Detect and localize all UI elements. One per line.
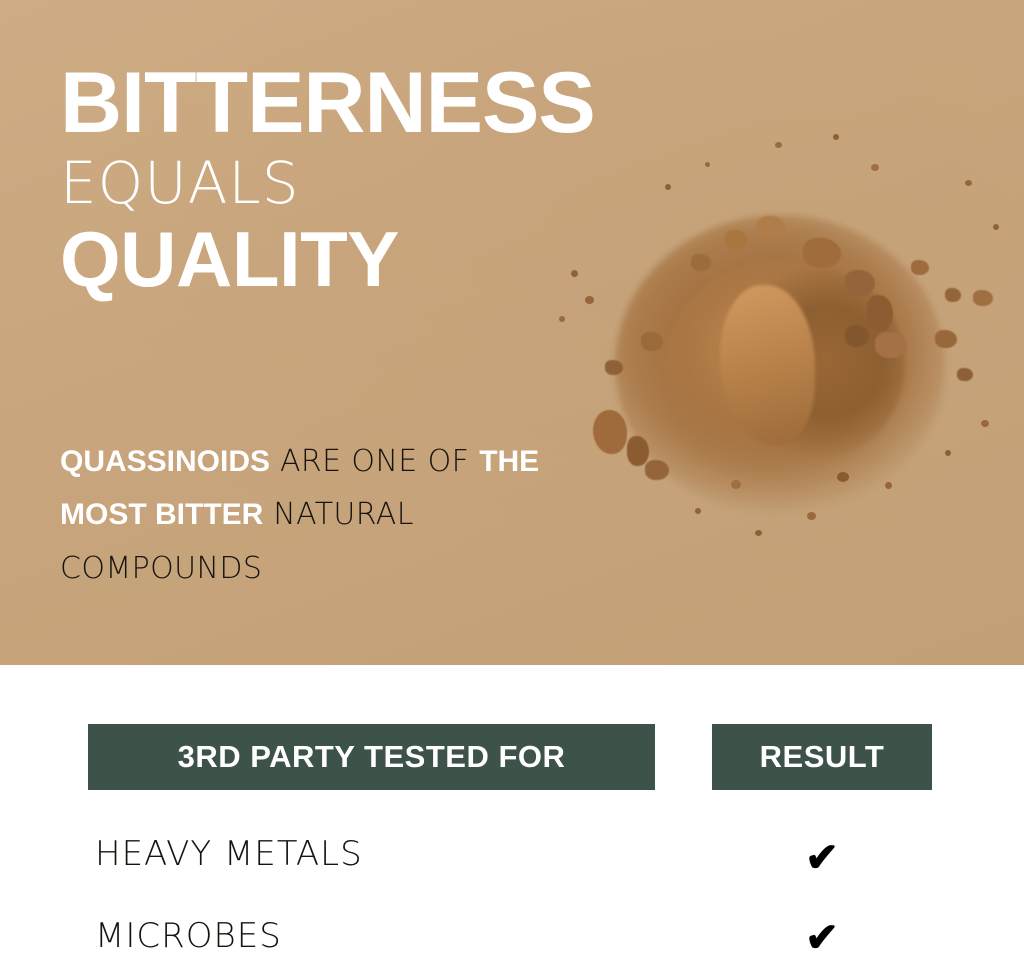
lede-emphasis-quassinoids: QUASSINOIDS (60, 445, 270, 478)
headline-line-bitterness: BITTERNESS (60, 62, 680, 145)
table-header-result: RESULT (712, 724, 932, 790)
table-row-label-heavy-metals: HEAVY METALS (95, 834, 363, 874)
table-row-check-heavy-metals: ✔ (712, 838, 932, 878)
headline-line-quality: QUALITY (60, 220, 680, 298)
hero-panel: BITTERNESS EQUALS QUALITY QUASSINOIDS AR… (0, 0, 1024, 665)
table-row-label-microbes: MICROBES (95, 916, 282, 956)
hero-headline: BITTERNESS EQUALS QUALITY (60, 62, 680, 298)
table-header-tested-for-label: 3RD PARTY TESTED FOR (178, 739, 566, 775)
headline-line-equals: EQUALS (60, 151, 680, 216)
table-header-tested-for: 3RD PARTY TESTED FOR (88, 724, 655, 790)
lede-text-are-one-of: ARE ONE OF (270, 444, 479, 479)
table-row-check-microbes: ✔ (712, 918, 932, 958)
hero-description: QUASSINOIDS ARE ONE OF THE MOST BITTER N… (60, 435, 580, 595)
table-header-result-label: RESULT (760, 739, 885, 775)
